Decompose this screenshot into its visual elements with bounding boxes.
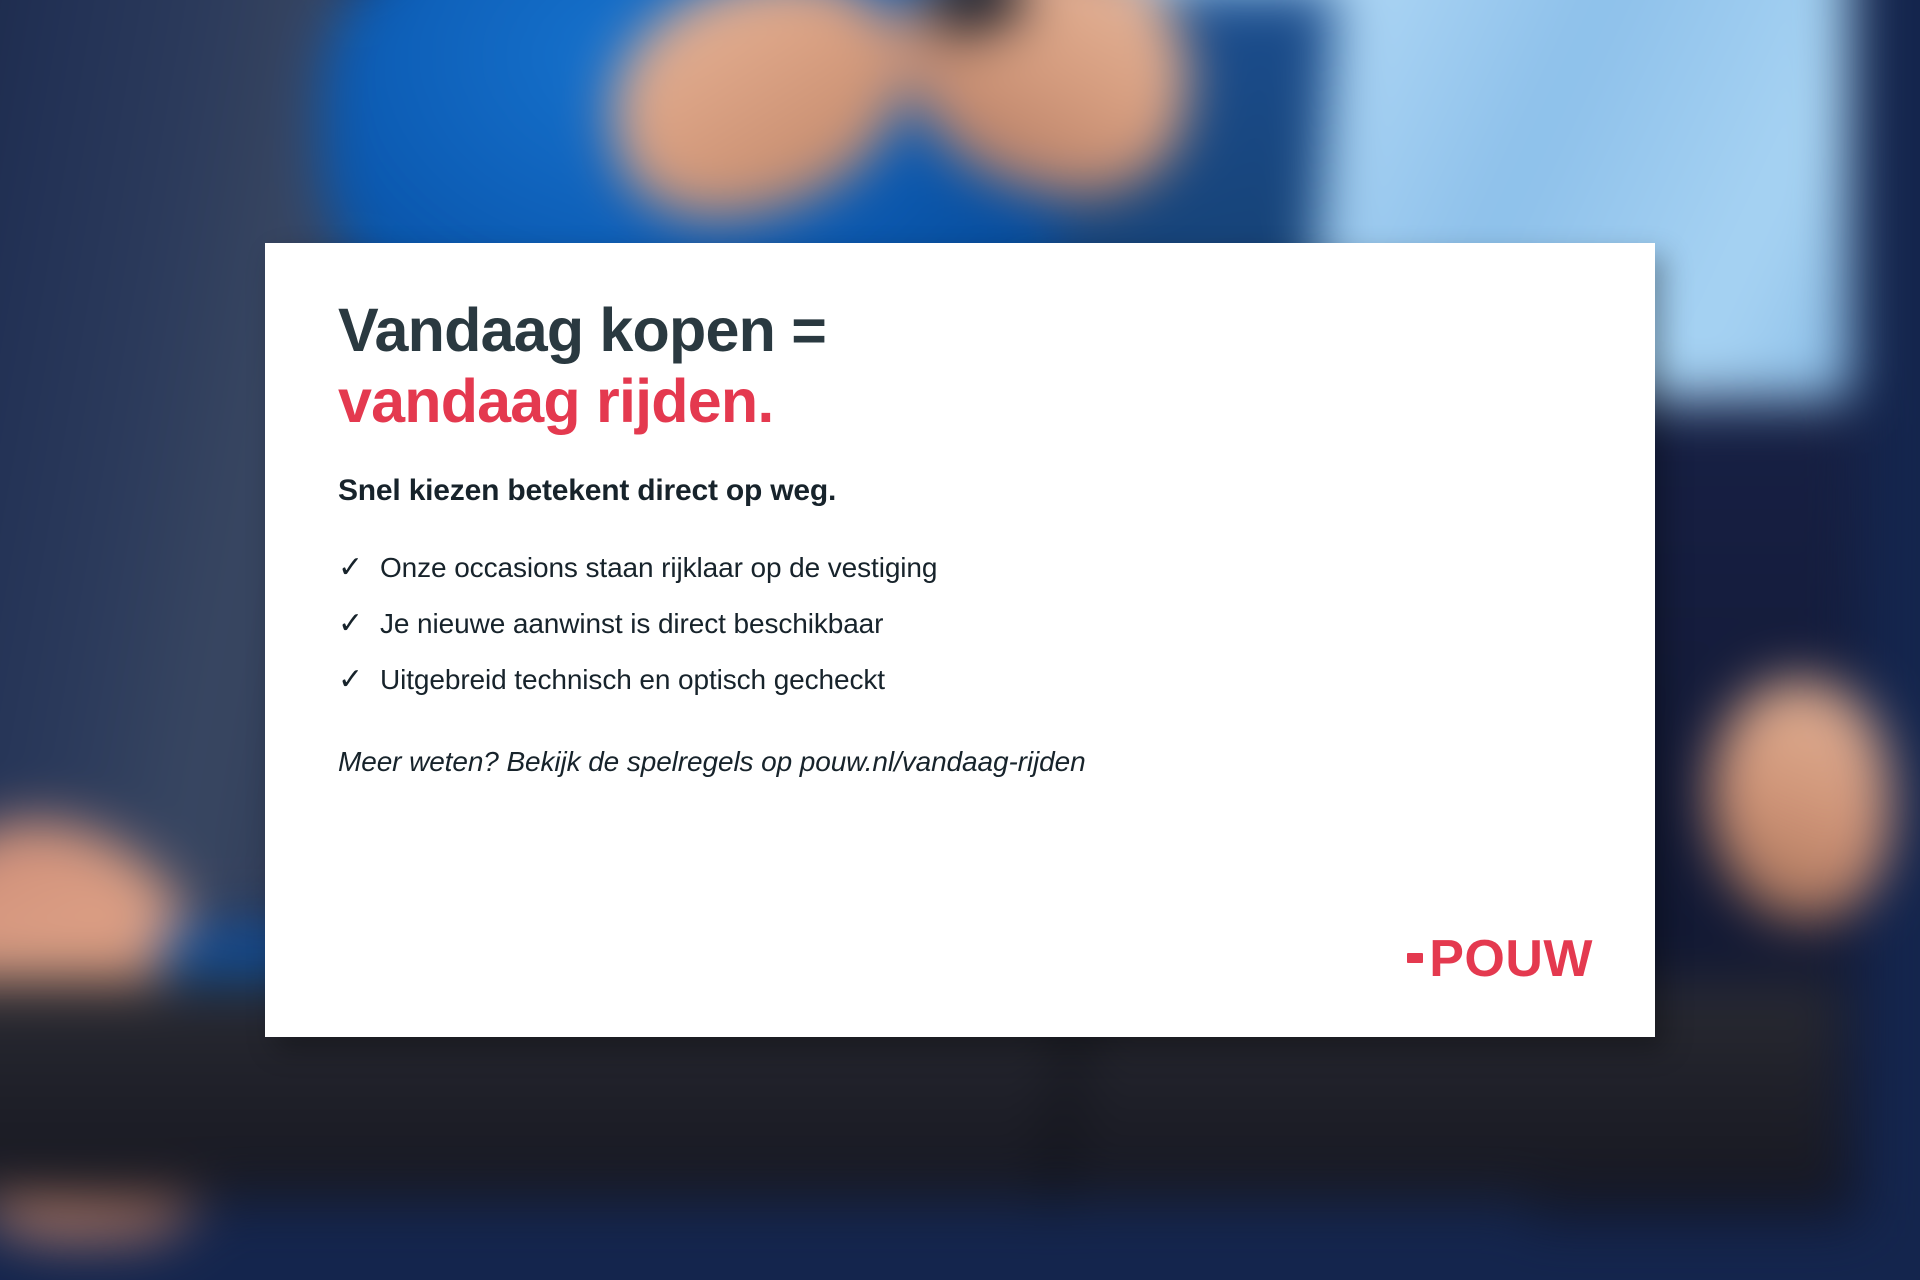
promo-card: Vandaag kopen = vandaag rijden. Snel kie… [265, 243, 1655, 1037]
list-item-label: Onze occasions staan rijklaar op de vest… [380, 552, 1595, 584]
advertisement-banner: Vandaag kopen = vandaag rijden. Snel kie… [0, 0, 1920, 1280]
dash-mark-icon [1407, 953, 1423, 963]
list-item: ✓ Onze occasions staan rijklaar op de ve… [338, 552, 1595, 584]
checkmark-icon: ✓ [338, 553, 380, 583]
list-item: ✓ Uitgebreid technisch en optisch gechec… [338, 664, 1595, 696]
pouw-logo: POUW [1407, 933, 1593, 985]
page-title: Vandaag kopen = vandaag rijden. [338, 295, 1595, 438]
promo-card-content: Vandaag kopen = vandaag rijden. Snel kie… [338, 295, 1595, 997]
pouw-logo-text: POUW [1429, 933, 1593, 985]
list-item: ✓ Je nieuwe aanwinst is direct beschikba… [338, 608, 1595, 640]
list-item-label: Je nieuwe aanwinst is direct beschikbaar [380, 608, 1595, 640]
checkmark-icon: ✓ [338, 609, 380, 639]
subheadline: Snel kiezen betekent direct op weg. [338, 474, 1595, 508]
footnote-text: Meer weten? Bekijk de spelregels op pouw… [338, 746, 1595, 778]
headline-line-2: vandaag rijden. [338, 366, 1595, 437]
list-item-label: Uitgebreid technisch en optisch gecheckt [380, 664, 1595, 696]
headline-line-1: Vandaag kopen = [338, 296, 826, 364]
checkmark-icon: ✓ [338, 665, 380, 695]
benefit-list: ✓ Onze occasions staan rijklaar op de ve… [338, 552, 1595, 696]
